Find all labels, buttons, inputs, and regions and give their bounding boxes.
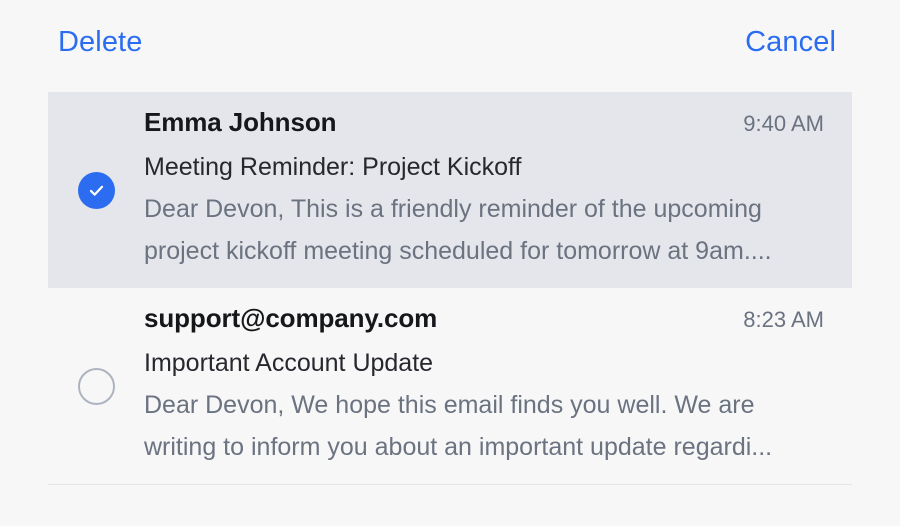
- email-subject: Meeting Reminder: Project Kickoff: [144, 150, 824, 184]
- circle-outline-icon[interactable]: [78, 368, 115, 405]
- email-header-line: support@company.com 8:23 AM: [144, 302, 824, 336]
- selection-column: [48, 288, 144, 484]
- email-sender: support@company.com: [144, 302, 437, 335]
- email-content: support@company.com 8:23 AM Important Ac…: [144, 288, 852, 484]
- table-row[interactable]: support@company.com 8:23 AM Important Ac…: [48, 288, 852, 484]
- action-bar: Delete Cancel: [0, 0, 900, 84]
- list-divider: [48, 484, 852, 485]
- email-preview: Dear Devon, We hope this email finds you…: [144, 384, 804, 468]
- delete-button[interactable]: Delete: [58, 25, 142, 59]
- list-top-spacer: [0, 84, 900, 92]
- email-header-line: Emma Johnson 9:40 AM: [144, 106, 824, 140]
- table-row[interactable]: Emma Johnson 9:40 AM Meeting Reminder: P…: [48, 92, 852, 288]
- email-timestamp: 9:40 AM: [743, 107, 824, 140]
- email-selection-screen: Delete Cancel Emma Johnson 9:40 AM: [0, 0, 900, 526]
- check-circle-filled-icon[interactable]: [78, 172, 115, 209]
- email-content: Emma Johnson 9:40 AM Meeting Reminder: P…: [144, 92, 852, 288]
- cancel-button[interactable]: Cancel: [745, 25, 836, 59]
- email-sender: Emma Johnson: [144, 106, 336, 139]
- email-preview: Dear Devon, This is a friendly reminder …: [144, 188, 804, 272]
- email-subject: Important Account Update: [144, 346, 824, 380]
- selection-column: [48, 92, 144, 288]
- email-list: Emma Johnson 9:40 AM Meeting Reminder: P…: [0, 84, 900, 485]
- email-timestamp: 8:23 AM: [743, 303, 824, 336]
